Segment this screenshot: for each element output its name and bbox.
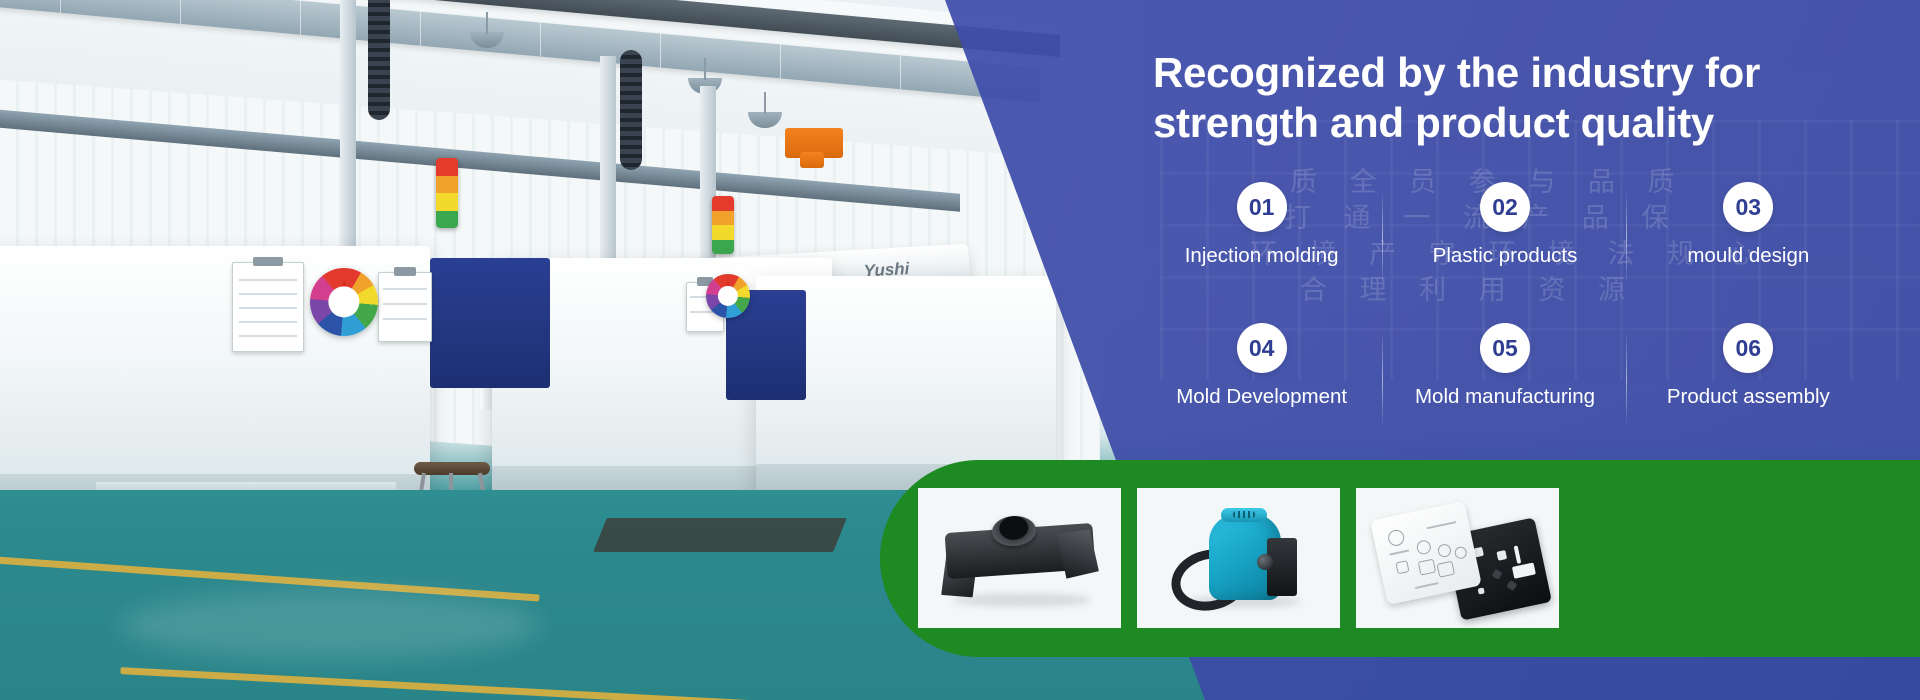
feature-label-03: mould design bbox=[1631, 244, 1866, 268]
floor-reflection bbox=[120, 590, 540, 660]
feature-badge-05: 05 bbox=[1480, 323, 1530, 373]
cable-chain bbox=[368, 0, 390, 120]
feature-row-2: 04 Mold Development 05 Mold manufacturin… bbox=[1140, 323, 1870, 409]
quality-color-wheel bbox=[310, 268, 378, 336]
feature-item-06[interactable]: 06 Product assembly bbox=[1627, 323, 1870, 409]
product-thumb-3[interactable] bbox=[1356, 488, 1559, 628]
feature-badge-03: 03 bbox=[1723, 182, 1773, 232]
floor-mat bbox=[593, 518, 847, 552]
promo-banner: SC-150 Yushi bbox=[0, 0, 1920, 700]
headline-line-2: strength and product quality bbox=[1153, 98, 1893, 148]
product-thumb-2[interactable] bbox=[1137, 488, 1340, 628]
quality-color-wheel bbox=[706, 274, 750, 318]
headline-line-1: Recognized by the industry for bbox=[1153, 48, 1893, 98]
feature-label-02: Plastic products bbox=[1387, 244, 1622, 268]
orange-hoist bbox=[800, 152, 824, 168]
feature-badge-06: 06 bbox=[1723, 323, 1773, 373]
feature-row-1: 01 Injection molding 02 Plastic products… bbox=[1140, 182, 1870, 268]
machine-clipboard bbox=[378, 272, 432, 342]
feature-item-04[interactable]: 04 Mold Development bbox=[1140, 323, 1383, 409]
cable-chain bbox=[620, 50, 642, 170]
machine-guard-panel bbox=[430, 258, 550, 388]
feature-badge-04: 04 bbox=[1237, 323, 1287, 373]
feature-label-05: Mold manufacturing bbox=[1387, 385, 1622, 409]
feature-label-04: Mold Development bbox=[1144, 385, 1379, 409]
feature-item-01[interactable]: 01 Injection molding bbox=[1140, 182, 1383, 268]
product-thumbnail-row bbox=[918, 488, 1559, 628]
signal-tower bbox=[436, 158, 458, 228]
feature-label-06: Product assembly bbox=[1631, 385, 1866, 409]
machine-clipboard bbox=[232, 262, 304, 352]
product-thumb-1[interactable] bbox=[918, 488, 1121, 628]
banner-headline: Recognized by the industry for strength … bbox=[1153, 48, 1893, 147]
feature-grid: 01 Injection molding 02 Plastic products… bbox=[1140, 182, 1870, 409]
signal-tower bbox=[712, 196, 734, 254]
feature-badge-01: 01 bbox=[1237, 182, 1287, 232]
feature-item-05[interactable]: 05 Mold manufacturing bbox=[1383, 323, 1626, 409]
feature-item-02[interactable]: 02 Plastic products bbox=[1383, 182, 1626, 268]
feature-item-03[interactable]: 03 mould design bbox=[1627, 182, 1870, 268]
feature-label-01: Injection molding bbox=[1144, 244, 1379, 268]
feature-badge-02: 02 bbox=[1480, 182, 1530, 232]
